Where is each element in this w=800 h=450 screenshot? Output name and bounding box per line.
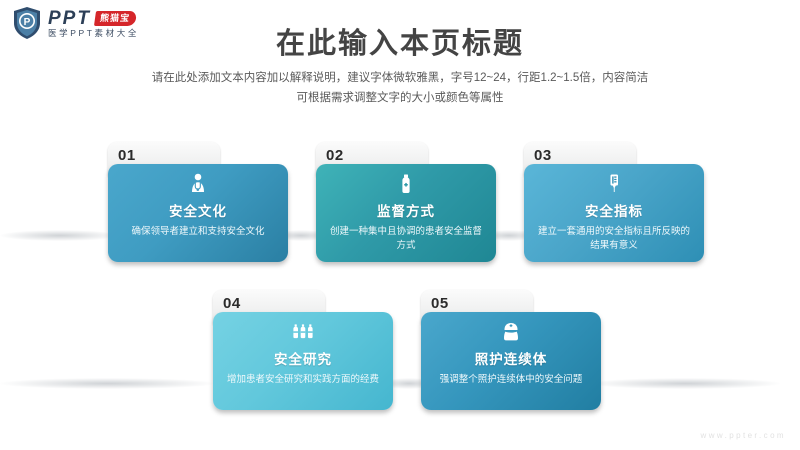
card-04[interactable]: 04 安全研究 增加患者安全研究和实践方面的经费	[213, 290, 393, 410]
page-title: 在此输入本页标题	[0, 20, 800, 62]
card-01-title: 安全文化	[169, 200, 227, 220]
card-02-title: 监督方式	[377, 200, 435, 220]
card-01[interactable]: 01 安全文化 确保领导者建立和支持安全文化	[108, 142, 288, 262]
iv-drip-icon	[601, 171, 627, 197]
card-05-title: 照护连续体	[475, 348, 548, 368]
card-04-body[interactable]: 安全研究 增加患者安全研究和实践方面的经费	[213, 312, 393, 410]
subtitle-line-2: 可根据需求调整文字的大小或颜色等属性	[0, 88, 800, 108]
card-04-desc: 增加患者安全研究和实践方面的经费	[227, 373, 379, 387]
three-bottles-icon	[290, 319, 316, 345]
card-03-number: 03	[534, 147, 552, 164]
card-02-desc: 创建一种集中且协调的患者安全监督方式	[330, 225, 482, 253]
card-03-desc: 建立一套通用的安全指标且所反映的结果有意义	[538, 225, 690, 253]
card-02-body[interactable]: 监督方式 创建一种集中且协调的患者安全监督方式	[316, 164, 496, 262]
card-05[interactable]: 05 照护连续体 强调整个照护连续体中的安全问题	[421, 290, 601, 410]
medicine-bottle-icon	[393, 171, 419, 197]
decorative-shadow-row2-right	[590, 378, 780, 389]
page-subtitle: 请在此处添加文本内容加以解释说明，建议字体微软雅黑，字号12~24，行距1.2~…	[0, 68, 800, 108]
card-03-title: 安全指标	[585, 200, 643, 220]
subtitle-line-1: 请在此处添加文本内容加以解释说明，建议字体微软雅黑，字号12~24，行距1.2~…	[0, 68, 800, 88]
card-01-body[interactable]: 安全文化 确保领导者建立和支持安全文化	[108, 164, 288, 262]
decorative-shadow-row2-left	[0, 378, 215, 389]
footer-watermark: www.ppter.com	[701, 431, 786, 440]
card-02[interactable]: 02 监督方式 创建一种集中且协调的患者安全监督方式	[316, 142, 496, 262]
decorative-shadow-row1-left	[0, 230, 120, 241]
nurse-head-icon	[498, 319, 524, 345]
card-05-desc: 强调整个照护连续体中的安全问题	[435, 373, 587, 387]
card-02-number: 02	[326, 147, 344, 164]
card-05-number: 05	[431, 295, 449, 312]
card-01-number: 01	[118, 147, 136, 164]
card-04-number: 04	[223, 295, 241, 312]
card-03[interactable]: 03 安全指标 建立一套通用的安全指标且所反映的结果有意义	[524, 142, 704, 262]
doctor-stethoscope-icon	[185, 171, 211, 197]
card-03-body[interactable]: 安全指标 建立一套通用的安全指标且所反映的结果有意义	[524, 164, 704, 262]
card-04-title: 安全研究	[274, 348, 332, 368]
card-01-desc: 确保领导者建立和支持安全文化	[122, 225, 274, 239]
card-05-body[interactable]: 照护连续体 强调整个照护连续体中的安全问题	[421, 312, 601, 410]
